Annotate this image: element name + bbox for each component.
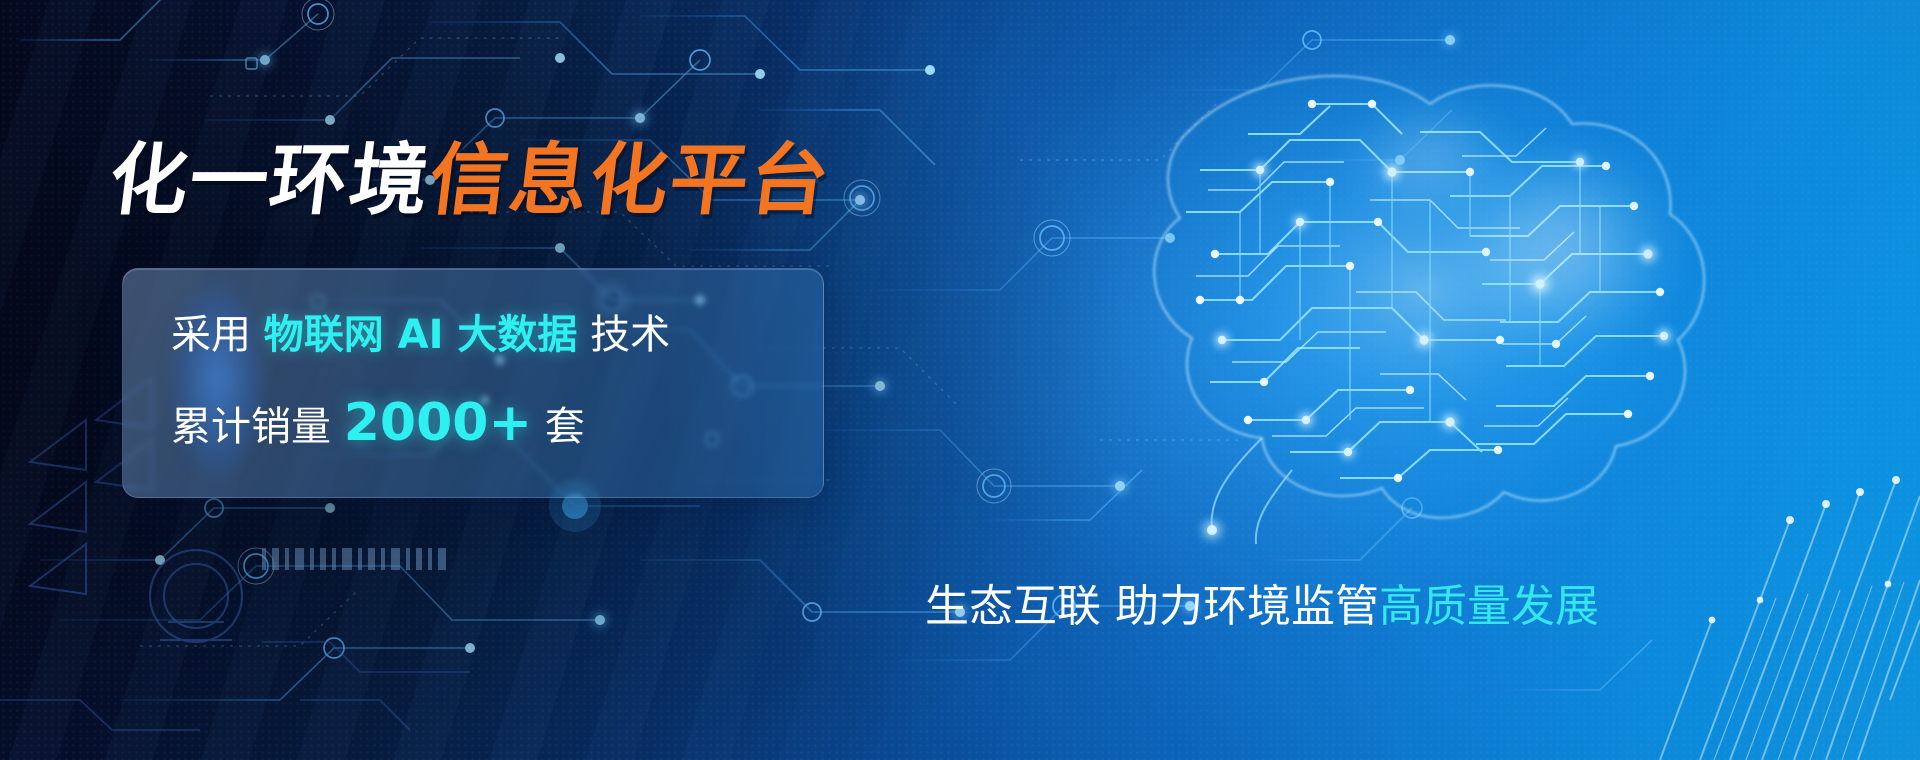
card-line2-prefix: 累计销量 [171, 404, 331, 450]
card-sales-number: 2000+ [344, 393, 532, 453]
hero-banner: 化一环境信息化平台 采用 物联网 AI 大数据 技术 累计销量 2000+ 套 … [0, 0, 1920, 760]
bottom-bar-ticks [262, 548, 446, 570]
page-title: 化一环境信息化平台 [105, 142, 835, 220]
tagline-plain-part: 生态互联 助力环境监管 [925, 581, 1379, 632]
title-orange-part: 信息化平台 [424, 136, 835, 226]
card-line1-suffix: 技术 [590, 312, 670, 358]
card-line-sales: 累计销量 2000+ 套 [171, 397, 585, 449]
card-line2-suffix: 套 [545, 404, 585, 450]
card-line1-prefix: 采用 [171, 312, 251, 358]
card-line1-highlight: 物联网 AI 大数据 [264, 312, 578, 358]
tagline-highlight-part: 高质量发展 [1379, 581, 1599, 632]
card-line-technology: 采用 物联网 AI 大数据 技术 [171, 315, 670, 355]
feature-card: 采用 物联网 AI 大数据 技术 累计销量 2000+ 套 [122, 268, 824, 498]
banner-tagline: 生态互联 助力环境监管高质量发展 [925, 585, 1599, 629]
title-white-part: 化一环境 [104, 136, 435, 226]
